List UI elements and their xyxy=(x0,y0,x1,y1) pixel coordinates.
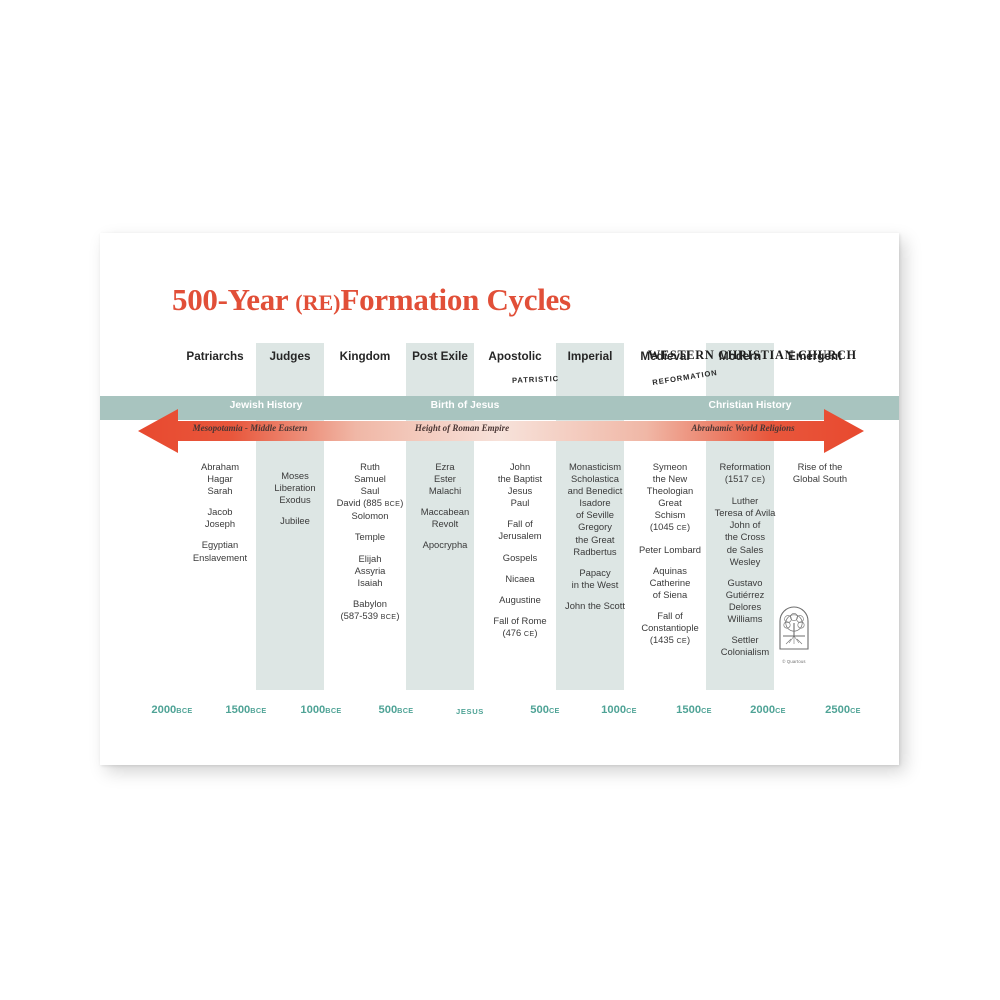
timeline-entry: Apocrypha xyxy=(403,539,487,551)
timeline-entry: MaccabeanRevolt xyxy=(403,506,487,530)
tree-arch-logo: © Quartous xyxy=(772,605,816,661)
timeline-entry: Solomon xyxy=(328,510,412,522)
screenshot-canvas: 500-Year (RE)Formation Cycles WESTERN CH… xyxy=(0,0,1000,1000)
timeline-entry: Hagar xyxy=(178,473,262,485)
timeline-entry: Jubilee xyxy=(253,515,337,527)
era-sublabel-patristic: PATRISTIC xyxy=(512,374,559,385)
title-row: 500-Year (RE)Formation Cycles WESTERN CH… xyxy=(100,280,899,322)
timeline-entry: Paul xyxy=(478,497,562,509)
era-header-post-exile[interactable]: Post Exile xyxy=(401,350,479,363)
timeline-column-judges: MosesLiberationExodusJubilee xyxy=(253,461,337,527)
era-header-imperial[interactable]: Imperial xyxy=(551,350,629,363)
timeline-entry: John the Scott xyxy=(553,600,637,612)
timeline-column-medieval: Symeonthe NewTheologianGreatSchism(1045 … xyxy=(628,461,712,647)
timeline-entry: de Sales xyxy=(703,544,787,556)
era-header-apostolic[interactable]: Apostolic xyxy=(476,350,554,363)
timeline-entry: Jacob xyxy=(178,506,262,518)
era-header-emergent[interactable]: Emergent xyxy=(776,350,854,363)
timeline-entry: Catherineof Siena xyxy=(628,577,712,601)
timeline-entry: Fall ofConstantiople(1435 CE) xyxy=(628,610,712,647)
timeline-entry: Teresa of Avila xyxy=(703,507,787,519)
title-re-mark: (RE) xyxy=(295,290,340,315)
era-header-patriarchs[interactable]: Patriarchs xyxy=(176,350,254,363)
timeline-entry: Reformation(1517 CE) xyxy=(703,461,787,486)
timeline-entry: Fall ofJerusalem xyxy=(478,518,562,542)
axis-tick-jesus: JESUS xyxy=(430,707,510,716)
timeline-entry: Abraham xyxy=(178,461,262,473)
timeline-entry: Papacyin the West xyxy=(553,567,637,591)
timeline-entry: Gospels xyxy=(478,552,562,564)
timeline-entry: Aquinas xyxy=(628,565,712,577)
timeline-entry: Gregorythe Great xyxy=(553,521,637,545)
timeline-entry: Liberation xyxy=(253,482,337,494)
timeline-column-emergent: Rise of theGlobal South xyxy=(778,461,862,485)
timeline-entry: Fall of Rome(476 CE) xyxy=(478,615,562,640)
timeline-column-post-exile: EzraEsterMalachiMaccabeanRevoltApocrypha xyxy=(403,461,487,552)
axis-tick-1000ce: 1000CE xyxy=(579,704,659,716)
axis-tick-1000bce: 1000BCE xyxy=(281,704,361,716)
timeline-entry: Rise of theGlobal South xyxy=(778,461,862,485)
era-header-judges[interactable]: Judges xyxy=(251,350,329,363)
timeline-entry: Exodus xyxy=(253,494,337,506)
timeline-entry: Ruth xyxy=(328,461,412,473)
timeline-entry: Sarah xyxy=(178,485,262,497)
axis-tick-2000ce: 2000CE xyxy=(728,704,808,716)
era-header-medieval[interactable]: Medieval xyxy=(626,350,704,363)
era-header-modern[interactable]: Modern xyxy=(701,350,779,363)
timeline-entry: GreatSchism(1045 CE) xyxy=(628,497,712,534)
axis-tick-500ce: 500CE xyxy=(505,704,585,716)
timeline-entry: Ester xyxy=(403,473,487,485)
timeline-entry: Luther xyxy=(703,495,787,507)
timeline-entry: Babylon(587-539 BCE) xyxy=(328,598,412,623)
timeline-entry: Isaiah xyxy=(328,577,412,589)
logo-caption: © Quartous xyxy=(772,659,816,664)
arrow-label-abrahamic: Abrahamic World Religions xyxy=(648,423,838,433)
timeline-column-kingdom: RuthSamuelSaulDavid (885 BCE)SolomonTemp… xyxy=(328,461,412,623)
timeline-entry: Temple xyxy=(328,531,412,543)
axis-tick-2000bce: 2000BCE xyxy=(132,704,212,716)
timeline-column-apostolic: Johnthe BaptistJesusPaulFall ofJerusalem… xyxy=(478,461,562,640)
timeline-entry: Isadoreof Seville xyxy=(553,497,637,521)
timeline-entry: David (885 BCE) xyxy=(328,497,412,510)
timeline-entry: Radbertus xyxy=(553,546,637,558)
timeline-entry: Nicaea xyxy=(478,573,562,585)
timeline-entry: Peter Lombard xyxy=(628,544,712,556)
page-title: 500-Year (RE)Formation Cycles xyxy=(172,280,571,323)
timeline-column-imperial: MonasticismScholasticaand BenedictIsador… xyxy=(553,461,637,612)
timeline-entry: Monasticism xyxy=(553,461,637,473)
tree-arch-icon xyxy=(774,605,814,653)
timeline-entry: John ofthe Cross xyxy=(703,519,787,543)
timeline-entry: EgyptianEnslavement xyxy=(178,539,262,563)
timeline-entry: Joseph xyxy=(178,518,262,530)
timeline-entry: Malachi xyxy=(403,485,487,497)
timeline-column-patriarchs: AbrahamHagarSarahJacobJosephEgyptianEnsl… xyxy=(178,461,262,564)
axis-tick-2500ce: 2500CE xyxy=(803,704,883,716)
arrow-label-roman-empire: Height of Roman Empire xyxy=(372,423,552,433)
timeline-entry: Saul xyxy=(328,485,412,497)
timeline-entry: Elijah xyxy=(328,553,412,565)
timeline-entry: GustavoGutiérrez xyxy=(703,577,787,601)
axis-tick-500bce: 500BCE xyxy=(356,704,436,716)
poster-sheet: 500-Year (RE)Formation Cycles WESTERN CH… xyxy=(100,233,899,765)
timeline-entry: Johnthe Baptist xyxy=(478,461,562,485)
axis-tick-1500bce: 1500BCE xyxy=(206,704,286,716)
timeline-entry: Augustine xyxy=(478,594,562,606)
timeline-entry: Wesley xyxy=(703,556,787,568)
timeline-entry: Assyria xyxy=(328,565,412,577)
title-part-1: 500-Year xyxy=(172,282,295,317)
arrow-label-mesopotamia: Mesopotamia - Middle Eastern xyxy=(160,423,340,433)
era-header-kingdom[interactable]: Kingdom xyxy=(326,350,404,363)
timeline-entry: Samuel xyxy=(328,473,412,485)
timeline-entry: Ezra xyxy=(403,461,487,473)
timeline-entry: Jesus xyxy=(478,485,562,497)
axis-tick-1500ce: 1500CE xyxy=(654,704,734,716)
timeline-entry: Moses xyxy=(253,470,337,482)
title-part-2: Formation Cycles xyxy=(341,282,571,317)
timeline-entry: Symeonthe NewTheologian xyxy=(628,461,712,497)
timeline-entry: Scholasticaand Benedict xyxy=(553,473,637,497)
